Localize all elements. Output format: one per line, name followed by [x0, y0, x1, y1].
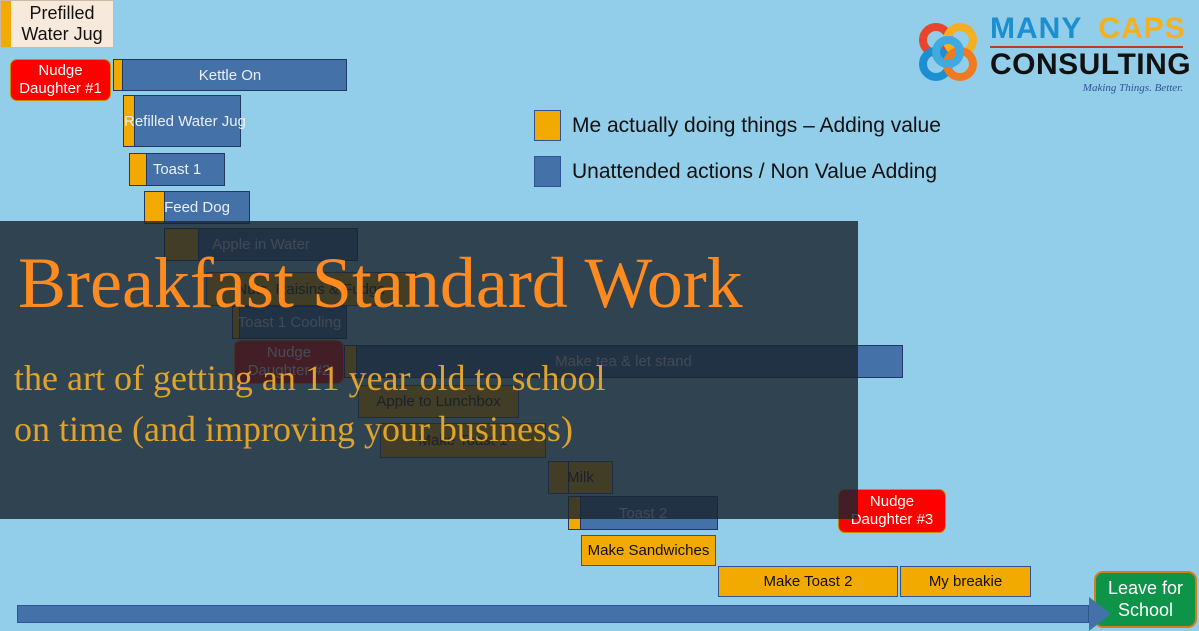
- gantt-task-my-breakie[interactable]: My breakie: [900, 566, 1031, 597]
- gantt-task-nudge-daughter-3[interactable]: Nudge Daughter #3: [838, 489, 946, 533]
- task-label: Make Toast 2: [719, 573, 897, 590]
- value-add-stripe: [1, 1, 11, 47]
- task-label: Refilled Water Jug: [124, 113, 240, 130]
- legend-label-value-adding: Me actually doing things – Adding value: [572, 114, 941, 138]
- logo-word-many: MANY: [990, 12, 1082, 45]
- legend-item-non-value-adding: Unattended actions / Non Value Adding: [534, 156, 941, 187]
- gantt-task-toast-1[interactable]: Toast 1: [129, 153, 225, 186]
- logo-knot-icon: [916, 20, 980, 84]
- value-add-segment: [345, 346, 357, 377]
- value-add-segment: [569, 497, 581, 529]
- value-add-segment: [165, 229, 199, 260]
- value-add-segment: [233, 307, 240, 338]
- legend-item-value-adding: Me actually doing things – Adding value: [534, 110, 941, 141]
- gantt-task-make-toast-2[interactable]: Make Toast 2: [718, 566, 898, 597]
- task-label: Toast 1 Cooling: [233, 314, 346, 331]
- value-add-segment: [124, 96, 135, 146]
- legend-label-non-value-adding: Unattended actions / Non Value Adding: [572, 160, 937, 184]
- logo-wordmark: MANYCAPS CONSULTING Making Things. Bette…: [990, 14, 1191, 94]
- task-label: Nudge Daughter #3: [839, 493, 945, 528]
- value-add-segment: [145, 192, 165, 223]
- legend-swatch-value-adding: [534, 110, 561, 141]
- task-label: Apple to Lunchbox: [359, 393, 518, 410]
- value-add-segment: [130, 154, 147, 185]
- gantt-task-toast-1-cooling[interactable]: Toast 1 Cooling: [232, 306, 347, 339]
- legend: Me actually doing things – Adding value …: [534, 110, 941, 202]
- task-label: Prefilled Water Jug: [1, 3, 113, 44]
- task-label: Nudge Daughter #2: [235, 344, 343, 379]
- logo-line-1: MANYCAPS: [990, 14, 1191, 44]
- task-label: Make tea & let stand: [345, 353, 902, 370]
- timeline-arrow-head: [1089, 597, 1111, 631]
- gantt-task-make-sandwiches[interactable]: Make Sandwiches: [581, 535, 716, 566]
- logo-tagline: Making Things. Better.: [990, 82, 1183, 94]
- task-label: My breakie: [901, 573, 1030, 590]
- gantt-task-make-toast-1[interactable]: Make Toast 1: [380, 423, 546, 458]
- gantt-task-apple-in-water[interactable]: Apple in Water: [164, 228, 358, 261]
- slide-canvas: Prefilled Water JugNudge Daughter #1Kett…: [0, 0, 1199, 628]
- task-label: Nudge Daughter #1: [11, 62, 110, 97]
- company-logo: MANYCAPS CONSULTING Making Things. Bette…: [916, 14, 1186, 92]
- timeline-arrow-shaft: [17, 605, 1089, 623]
- gantt-task-make-tea-let-stand[interactable]: Make tea & let stand: [344, 345, 903, 378]
- task-label: Toast 2: [569, 505, 717, 522]
- gantt-task-prefilled-water-jug[interactable]: Prefilled Water Jug: [0, 0, 114, 48]
- task-label: Nuts, Raisins & Fudge: [207, 281, 415, 298]
- gantt-task-nudge-daughter-2[interactable]: Nudge Daughter #2: [234, 340, 344, 384]
- task-label: Make Sandwiches: [582, 542, 715, 559]
- gantt-task-kettle-on[interactable]: Kettle On: [113, 59, 347, 91]
- gantt-task-nudge-daughter-1[interactable]: Nudge Daughter #1: [10, 59, 111, 101]
- gantt-task-feed-dog[interactable]: Feed Dog: [144, 191, 250, 224]
- legend-swatch-non-value-adding: [534, 156, 561, 187]
- gantt-task-refilled-water-jug[interactable]: Refilled Water Jug: [123, 95, 241, 147]
- task-label: Make Toast 1: [381, 432, 545, 449]
- gantt-task-milk[interactable]: Milk: [548, 461, 613, 494]
- value-add-segment: [549, 462, 569, 493]
- gantt-task-apple-to-lunchbox[interactable]: Apple to Lunchbox: [358, 385, 519, 418]
- gantt-task-nuts-raisins-fudge[interactable]: Nuts, Raisins & Fudge: [206, 272, 416, 306]
- value-add-segment: [114, 60, 123, 90]
- gantt-task-toast-2[interactable]: Toast 2: [568, 496, 718, 530]
- logo-word-caps: CAPS: [1098, 12, 1185, 45]
- task-label: Kettle On: [114, 67, 346, 84]
- logo-word-consulting: CONSULTING: [990, 49, 1191, 81]
